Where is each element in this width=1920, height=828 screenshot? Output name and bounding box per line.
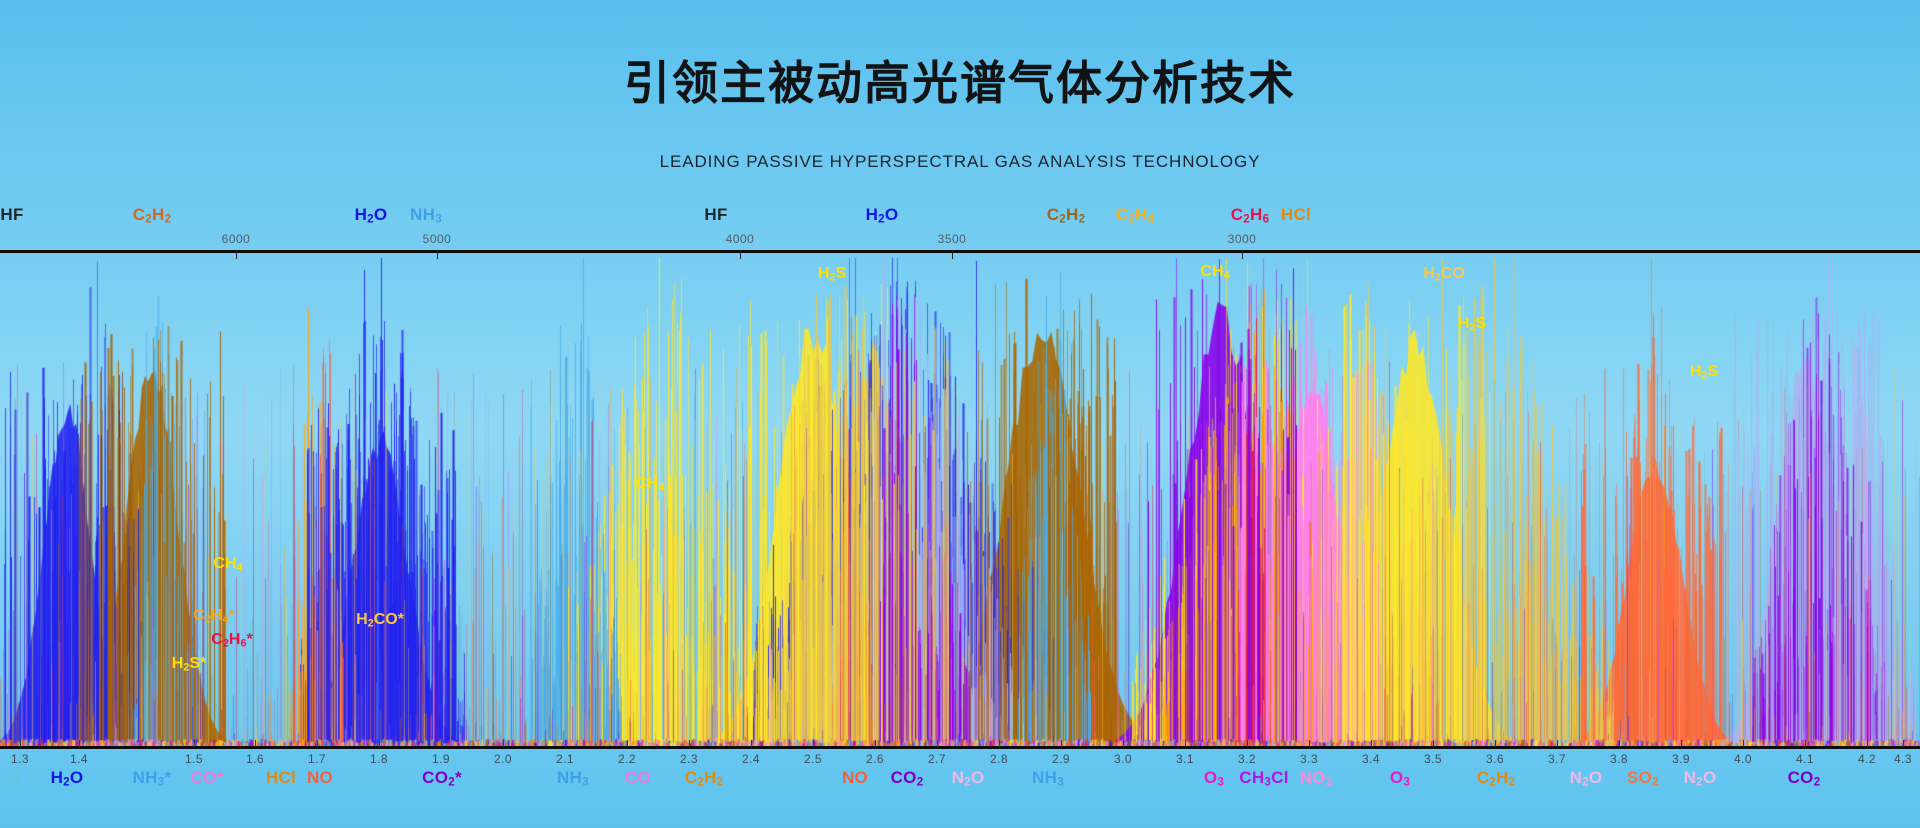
bottom-gas-label: NH3* bbox=[133, 768, 172, 789]
bottom-axis-tick bbox=[1805, 740, 1806, 747]
bottom-axis-tick-label: 3.7 bbox=[1548, 752, 1566, 766]
bottom-axis-line bbox=[0, 746, 1920, 749]
bottom-axis-tick-label: 2.9 bbox=[1052, 752, 1070, 766]
bottom-gas-label: NO bbox=[842, 768, 868, 788]
bottom-axis-tick-label: 3.6 bbox=[1486, 752, 1504, 766]
bottom-axis-tick-label: 2.1 bbox=[556, 752, 574, 766]
bottom-gas-label: C2H2 bbox=[1477, 768, 1516, 789]
bottom-gas-label: O3 bbox=[1390, 768, 1410, 789]
bottom-axis-tick bbox=[1185, 740, 1186, 747]
bottom-gas-label: CO2 bbox=[891, 768, 924, 789]
bottom-axis-tick-label: 3.2 bbox=[1238, 752, 1256, 766]
bottom-axis-tick bbox=[1371, 740, 1372, 747]
bottom-gas-label: NO bbox=[307, 768, 333, 788]
bottom-axis-tick-label: 4.2 bbox=[1858, 752, 1876, 766]
bottom-gas-label: CO* bbox=[190, 768, 223, 788]
bottom-axis-tick bbox=[1309, 740, 1310, 747]
bottom-axis-tick bbox=[813, 740, 814, 747]
bottom-gas-label: N2O bbox=[1684, 768, 1717, 789]
bottom-gas-label: NH3 bbox=[1032, 768, 1064, 789]
bottom-axis-tick bbox=[999, 740, 1000, 747]
top-gas-label: C2H4 bbox=[1116, 205, 1155, 226]
bottom-axis-tick-label: 3.8 bbox=[1610, 752, 1628, 766]
bottom-axis-tick bbox=[379, 740, 380, 747]
top-gas-label: HF bbox=[0, 205, 23, 225]
bottom-axis-tick-label: 3.1 bbox=[1176, 752, 1194, 766]
bottom-axis-tick-label: 2.0 bbox=[494, 752, 512, 766]
banner-header: 引领主被动高光谱气体分析技术 LEADING PASSIVE HYPERSPEC… bbox=[0, 0, 1920, 196]
bottom-axis-tick-label: 1.9 bbox=[432, 752, 450, 766]
bottom-axis-tick bbox=[689, 740, 690, 747]
bottom-axis-tick-label: 4.3 bbox=[1894, 752, 1912, 766]
bottom-axis-tick bbox=[1903, 740, 1904, 747]
bottom-gas-label: CO bbox=[625, 768, 651, 788]
bottom-gas-label: H2O bbox=[0, 768, 20, 789]
bottom-axis-tick-label: 3.3 bbox=[1300, 752, 1318, 766]
bottom-axis-tick bbox=[627, 740, 628, 747]
bottom-gas-label: C2H2 bbox=[685, 768, 724, 789]
bottom-gas-label: CH3Cl bbox=[1239, 768, 1289, 789]
top-gas-label: H2O bbox=[355, 205, 388, 226]
bottom-axis-tick-label: 1.6 bbox=[246, 752, 264, 766]
bottom-axis-tick-label: 2.4 bbox=[742, 752, 760, 766]
bottom-axis-tick-label: 2.2 bbox=[618, 752, 636, 766]
bottom-axis-tick bbox=[1681, 740, 1682, 747]
bottom-gas-label: O3 bbox=[1204, 768, 1224, 789]
bottom-axis-tick bbox=[20, 740, 21, 747]
bottom-axis-tick-label: 1.5 bbox=[185, 752, 203, 766]
bottom-axis-tick-label: 2.8 bbox=[990, 752, 1008, 766]
top-axis-tick-label: 3000 bbox=[1228, 232, 1257, 246]
top-axis-tick-label: 6000 bbox=[222, 232, 251, 246]
bottom-axis-tick-label: 2.6 bbox=[866, 752, 884, 766]
bottom-axis-tick bbox=[194, 740, 195, 747]
bottom-gas-label: NH3 bbox=[557, 768, 589, 789]
bottom-axis-tick-label: 3.0 bbox=[1114, 752, 1132, 766]
bottom-axis-tick bbox=[255, 740, 256, 747]
bottom-axis-tick bbox=[1619, 740, 1620, 747]
page-subtitle: LEADING PASSIVE HYPERSPECTRAL GAS ANALYS… bbox=[0, 152, 1920, 172]
bottom-axis-tick bbox=[1495, 740, 1496, 747]
top-gas-label: NH3 bbox=[410, 205, 442, 226]
bottom-axis-tick-label: 2.5 bbox=[804, 752, 822, 766]
bottom-axis-tick bbox=[441, 740, 442, 747]
bottom-axis-tick bbox=[751, 740, 752, 747]
top-gas-label: HF bbox=[704, 205, 727, 225]
bottom-gas-label: NO2 bbox=[1300, 768, 1333, 789]
spectral-banner: 引领主被动高光谱气体分析技术 LEADING PASSIVE HYPERSPEC… bbox=[0, 0, 1920, 828]
top-axis-tick-label: 5000 bbox=[423, 232, 452, 246]
top-gas-label: C2H2 bbox=[133, 205, 172, 226]
bottom-axis-tick-label: 3.9 bbox=[1672, 752, 1690, 766]
bottom-gas-label: HCl bbox=[266, 768, 296, 788]
bottom-axis-tick bbox=[79, 740, 80, 747]
bottom-gas-label: N2O bbox=[952, 768, 985, 789]
bottom-axis-tick-label: 3.5 bbox=[1424, 752, 1442, 766]
top-gas-label: H2O bbox=[866, 205, 899, 226]
bottom-gas-label: SO2 bbox=[1627, 768, 1659, 789]
bottom-axis-tick-label: 4.0 bbox=[1734, 752, 1752, 766]
bottom-gas-label: CO2 bbox=[1788, 768, 1821, 789]
bottom-axis-tick bbox=[1557, 740, 1558, 747]
bottom-axis-tick-label: 1.8 bbox=[370, 752, 388, 766]
top-gas-label: C2H2 bbox=[1047, 205, 1086, 226]
bottom-axis-tick bbox=[1247, 740, 1248, 747]
bottom-axis-tick-label: 1.7 bbox=[308, 752, 326, 766]
bottom-axis-tick bbox=[565, 740, 566, 747]
bottom-axis-tick-label: 2.3 bbox=[680, 752, 698, 766]
page-title: 引领主被动高光谱气体分析技术 bbox=[0, 58, 1920, 109]
bottom-axis-tick bbox=[503, 740, 504, 747]
bottom-axis-tick bbox=[1743, 740, 1744, 747]
bottom-axis-tick-label: 1.4 bbox=[70, 752, 88, 766]
bottom-axis-tick bbox=[1867, 740, 1868, 747]
bottom-axis-tick-label: 1.3 bbox=[11, 752, 29, 766]
spectrum-canvas bbox=[0, 253, 1920, 746]
bottom-axis-tick-label: 3.4 bbox=[1362, 752, 1380, 766]
spectrum-plot: H2SCH4H2COH2SH2SCH4CH4C2H4*C2H6*H2S*H2CO… bbox=[0, 253, 1920, 746]
bottom-axis-tick bbox=[1061, 740, 1062, 747]
bottom-gas-label: N2O bbox=[1570, 768, 1603, 789]
bottom-axis-tick-label: 4.1 bbox=[1796, 752, 1814, 766]
bottom-axis-tick-label: 2.7 bbox=[928, 752, 946, 766]
top-axis-tick-label: 3500 bbox=[938, 232, 967, 246]
bottom-axis-tick bbox=[875, 740, 876, 747]
bottom-gas-label: CO2* bbox=[422, 768, 462, 789]
top-axis-tick-label: 4000 bbox=[726, 232, 755, 246]
bottom-axis-tick bbox=[937, 740, 938, 747]
bottom-axis-tick bbox=[317, 740, 318, 747]
top-gas-label: C2H6 bbox=[1231, 205, 1270, 226]
top-gas-label: HCl bbox=[1281, 205, 1311, 225]
bottom-axis-tick bbox=[1123, 740, 1124, 747]
bottom-axis-tick bbox=[1433, 740, 1434, 747]
bottom-gas-label: H2O bbox=[51, 768, 84, 789]
